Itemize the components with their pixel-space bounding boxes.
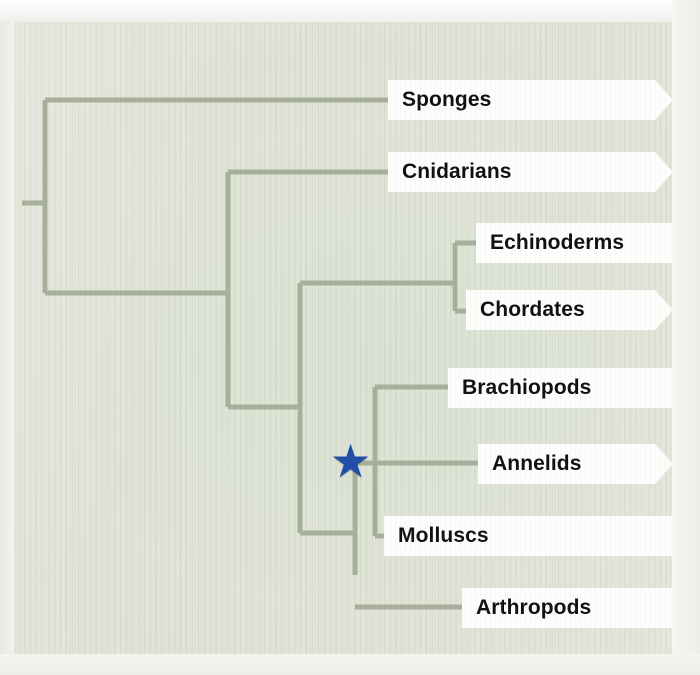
clade-marker-star-icon: ★ — [330, 438, 371, 484]
taxon-label-annelids: Annelids — [478, 444, 673, 484]
photo-edge-right — [672, 0, 700, 675]
taxon-label-brachiopods: Brachiopods — [448, 368, 673, 408]
photo-edge-left — [0, 0, 14, 675]
taxon-label-molluscs: Molluscs — [384, 516, 673, 556]
taxon-label-echinoderms-text: Echinoderms — [490, 231, 624, 255]
photo-edge-bottom — [0, 654, 700, 675]
taxon-label-arthropods-text: Arthropods — [476, 596, 591, 620]
taxon-label-echinoderms: Echinoderms — [476, 223, 673, 263]
taxon-label-chordates: Chordates — [466, 290, 673, 330]
taxon-label-sponges: Sponges — [388, 80, 673, 120]
taxon-label-annelids-text: Annelids — [492, 452, 581, 476]
photo-edge-top — [0, 0, 700, 22]
taxon-label-sponges-text: Sponges — [402, 88, 491, 112]
taxon-label-molluscs-text: Molluscs — [398, 524, 489, 548]
taxon-label-arthropods: Arthropods — [462, 588, 673, 628]
taxon-label-cnidarians-text: Cnidarians — [402, 160, 512, 184]
taxon-label-brachiopods-text: Brachiopods — [462, 376, 591, 400]
taxon-label-cnidarians: Cnidarians — [388, 152, 673, 192]
screenshot-stage: Sponges Cnidarians Echinoderms Chordates… — [0, 0, 700, 675]
taxon-label-chordates-text: Chordates — [480, 298, 585, 322]
